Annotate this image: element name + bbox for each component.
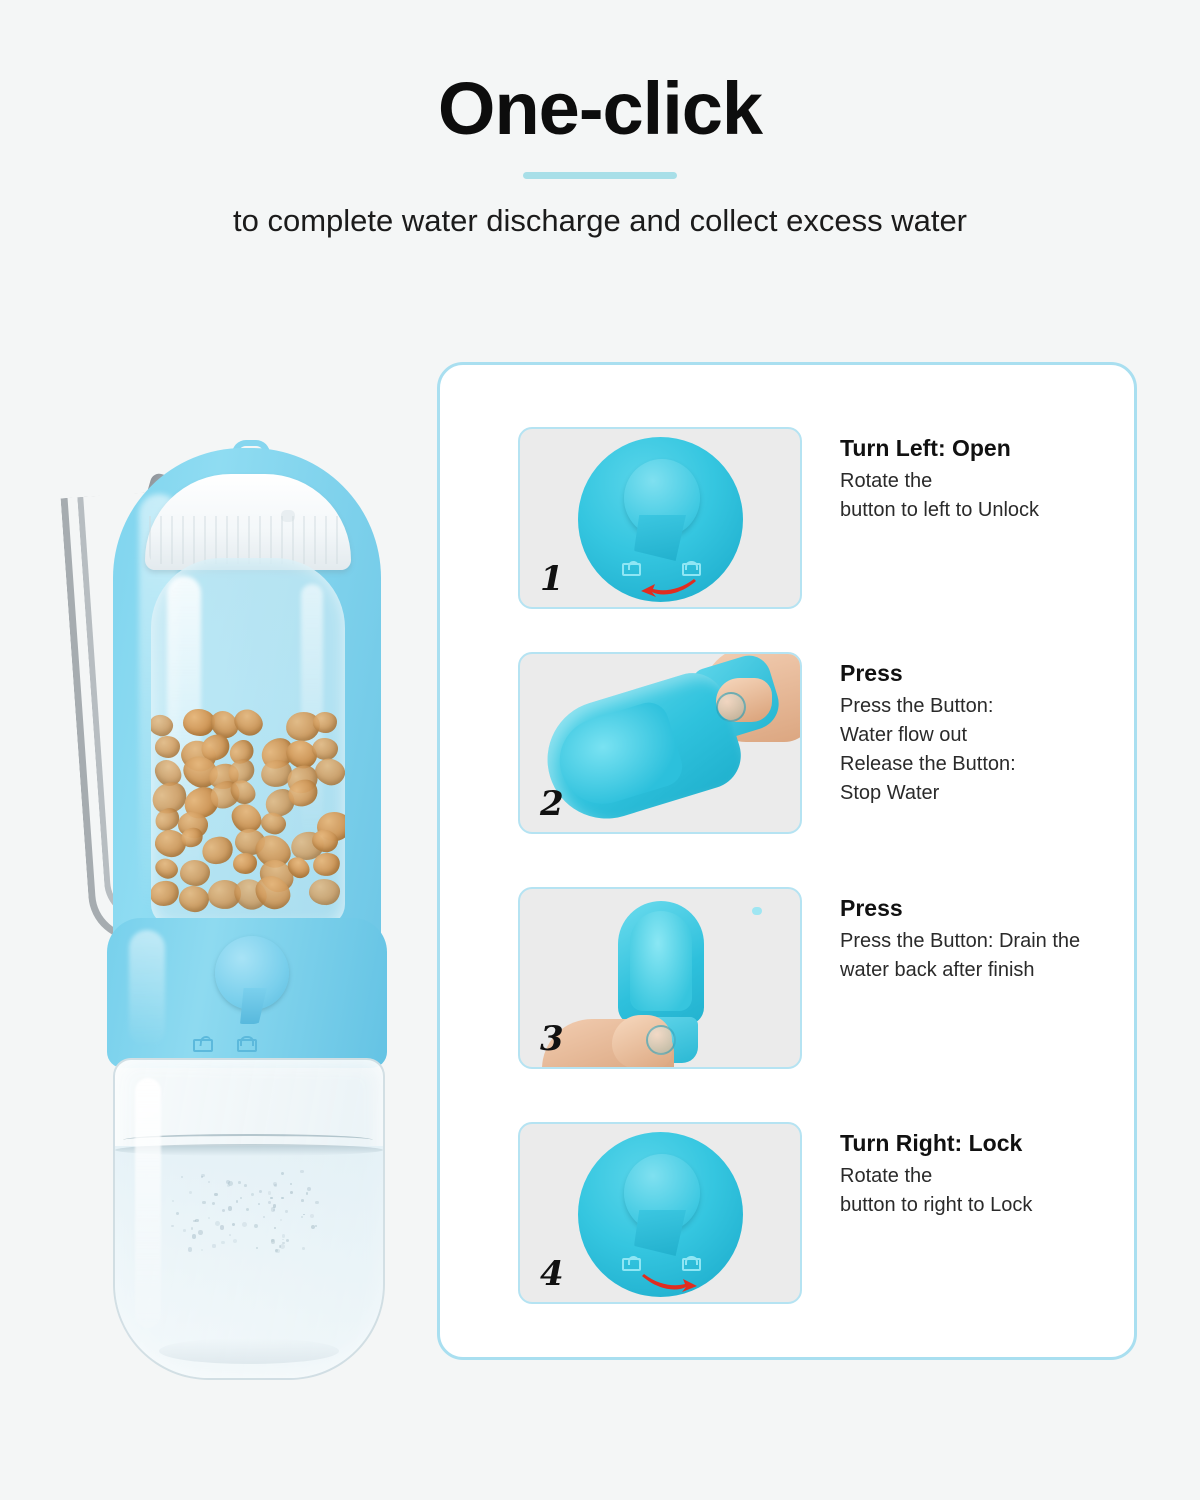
page-subtitle: to complete water discharge and collect … — [0, 203, 1200, 239]
step-number: 2 — [540, 784, 564, 824]
bubble — [242, 1222, 247, 1227]
bubble — [238, 1181, 241, 1184]
step-1-image-card: 1 — [518, 427, 802, 609]
step-heading: Press — [840, 895, 1080, 922]
bubble — [300, 1170, 303, 1173]
bubble — [270, 1197, 272, 1199]
step-line: button to left to Unlock — [840, 496, 1039, 525]
bubble — [244, 1184, 247, 1187]
unlock-icon — [622, 1256, 637, 1271]
bubble — [171, 1225, 173, 1227]
knob-tail — [634, 515, 686, 561]
step-heading: Turn Left: Open — [840, 435, 1039, 462]
unlock-icon — [193, 1036, 209, 1052]
bubble — [246, 1208, 249, 1211]
step-line: Rotate the — [840, 467, 1039, 496]
bubble — [208, 1217, 210, 1219]
page-title: One-click — [0, 72, 1200, 146]
kibble-piece — [232, 852, 257, 874]
step-number: 3 — [540, 1019, 564, 1059]
bubble — [192, 1234, 197, 1239]
kibble-piece — [180, 860, 210, 886]
bubble — [315, 1225, 317, 1227]
header: One-click to complete water discharge an… — [0, 0, 1200, 239]
bubble — [271, 1207, 275, 1211]
knob-photo-open — [578, 437, 743, 602]
bubble — [215, 1221, 220, 1226]
step-item: 2 Press Press the Button: Water flow out… — [518, 652, 1118, 830]
step-line: Water flow out — [840, 721, 1016, 750]
bubble — [183, 1229, 186, 1232]
bubble — [208, 1181, 210, 1183]
scoop-interior — [630, 911, 692, 1011]
step-2-image-card: 2 — [518, 652, 802, 834]
bubble — [306, 1192, 309, 1195]
arrow-left-icon — [640, 579, 698, 597]
kibble-piece — [152, 855, 181, 882]
water-tank — [113, 1058, 385, 1380]
kibble-piece — [313, 711, 337, 732]
step-line: Press the Button: — [840, 692, 1016, 721]
lock-icon — [682, 1256, 697, 1271]
bubble — [212, 1244, 215, 1247]
kibble-piece — [151, 713, 175, 738]
bubble — [236, 1200, 238, 1202]
kibble-piece — [309, 878, 341, 905]
product-image — [28, 430, 408, 1320]
food-window — [151, 558, 345, 926]
bubble — [301, 1199, 304, 1202]
arrow-right-icon — [640, 1274, 698, 1292]
step-line: Stop Water — [840, 779, 1016, 808]
step-line: Rotate the — [840, 1162, 1032, 1191]
lock-icon — [682, 561, 697, 576]
kibble-piece — [177, 884, 210, 914]
bubble — [302, 1247, 305, 1250]
instructions-panel: 1 Turn Left: Open Rotate the button to l… — [437, 362, 1137, 1360]
water-scoop — [533, 665, 749, 833]
scoop-nub — [752, 907, 762, 915]
bubble — [258, 1203, 260, 1205]
lock-icon — [237, 1036, 253, 1052]
bubble — [228, 1181, 233, 1186]
bubble — [188, 1247, 192, 1251]
bubble — [286, 1239, 289, 1242]
tank-base — [159, 1338, 339, 1364]
unlock-icon — [622, 561, 637, 576]
water-scoop — [618, 901, 704, 1025]
step-line: water back after finish — [840, 956, 1080, 985]
step-item: 4 Turn Right: Lock Rotate the button to … — [518, 1122, 1118, 1300]
knob-photo-lock — [578, 1132, 743, 1297]
step-4-image-card: 4 — [518, 1122, 802, 1304]
step-2-text: Press Press the Button: Water flow out R… — [840, 652, 1016, 830]
bubble — [285, 1210, 287, 1212]
collar-highlight — [129, 930, 165, 1048]
bubble — [221, 1241, 225, 1245]
step-line: Press the Button: Drain the — [840, 927, 1080, 956]
cap-ribs — [149, 516, 347, 564]
step-number: 4 — [540, 1254, 564, 1294]
step-3-image-card: 3 — [518, 887, 802, 1069]
bubble — [251, 1193, 254, 1196]
step-heading: Press — [840, 660, 1016, 687]
step-line: Release the Button: — [840, 750, 1016, 779]
step-line: button to right to Lock — [840, 1191, 1032, 1220]
bubble — [191, 1227, 193, 1229]
kibble-piece — [230, 704, 267, 739]
title-divider — [523, 172, 677, 179]
step-heading: Turn Right: Lock — [840, 1130, 1032, 1157]
kibble-piece — [312, 755, 345, 789]
knob-tail — [634, 1210, 686, 1256]
infographic-page: One-click to complete water discharge an… — [0, 0, 1200, 1500]
bubble — [282, 1234, 286, 1238]
kibble-pile — [151, 558, 345, 926]
button-collar — [107, 918, 387, 1068]
bubble — [307, 1187, 311, 1191]
bubble — [214, 1193, 218, 1197]
step-3-text: Press Press the Button: Drain the water … — [840, 887, 1080, 1065]
step-number: 1 — [540, 559, 564, 599]
bottle-body — [103, 430, 393, 1290]
press-button-icon — [716, 692, 746, 722]
bubble — [254, 1224, 258, 1228]
bubble — [271, 1239, 274, 1242]
bubble — [233, 1239, 237, 1243]
kibble-piece — [155, 736, 181, 758]
tank-highlight — [135, 1078, 161, 1328]
bubble — [301, 1216, 303, 1218]
scoop-interior — [549, 698, 687, 815]
step-1-text: Turn Left: Open Rotate the button to lef… — [840, 427, 1039, 605]
press-button-icon — [646, 1025, 676, 1055]
bubble — [176, 1212, 179, 1215]
kibble-piece — [151, 877, 181, 908]
bubble — [202, 1201, 205, 1204]
bubble — [263, 1216, 265, 1218]
bubble — [268, 1201, 271, 1204]
step-item: 3 Press Press the Button: Drain the wate… — [518, 887, 1118, 1065]
steps-list: 1 Turn Left: Open Rotate the button to l… — [440, 365, 1140, 1363]
bubble — [228, 1206, 232, 1210]
step-item: 1 Turn Left: Open Rotate the button to l… — [518, 427, 1118, 605]
bubble — [315, 1201, 318, 1204]
bubble — [268, 1191, 271, 1194]
release-button[interactable] — [215, 936, 289, 1026]
step-4-text: Turn Right: Lock Rotate the button to ri… — [840, 1122, 1032, 1300]
bubble — [198, 1230, 203, 1235]
bubble — [220, 1225, 225, 1230]
